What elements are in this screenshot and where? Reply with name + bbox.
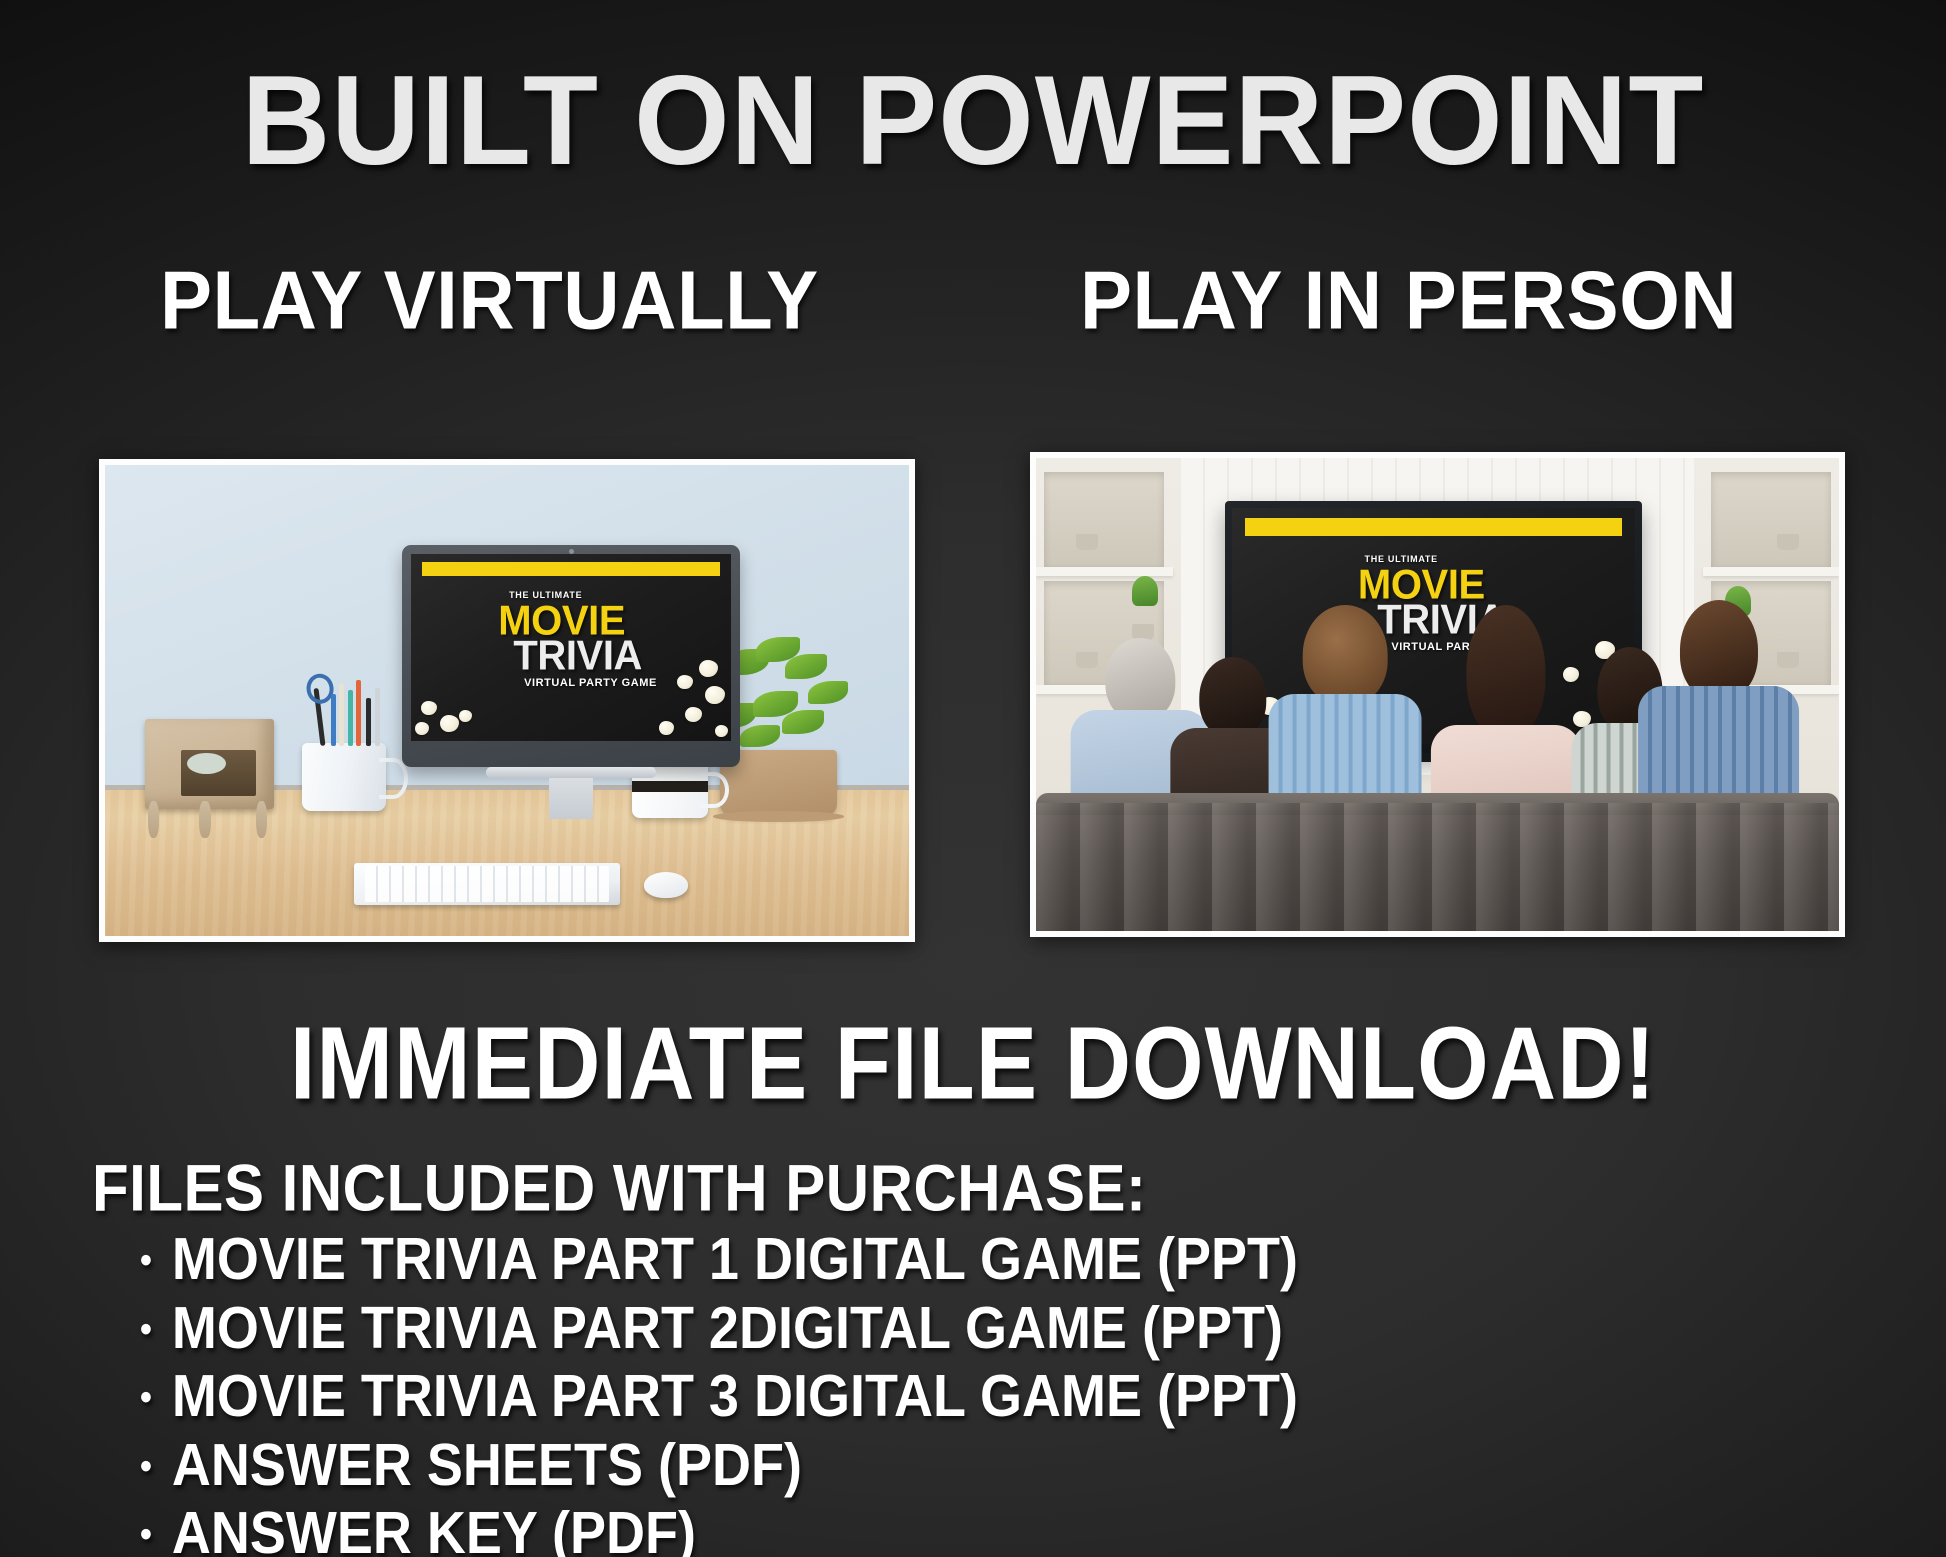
list-item: • ANSWER SHEETS (PDF) xyxy=(140,1428,1298,1503)
list-item: • MOVIE TRIVIA PART 2DIGITAL GAME (PPT) xyxy=(140,1291,1298,1366)
section-heading-play-in-person: PLAY IN PERSON xyxy=(1080,252,1737,348)
shelf-leg xyxy=(148,801,160,839)
section-heading-play-virtually: PLAY VIRTUALLY xyxy=(160,252,819,348)
pen xyxy=(339,684,344,746)
list-item-label: ANSWER KEY (PDF) xyxy=(172,1496,696,1557)
person-head xyxy=(1680,600,1758,700)
monitor-bezel: THE ULTIMATE MOVIE TRIVIA VIRTUAL PARTY … xyxy=(402,545,740,767)
living-room-scene-image: THE ULTIMATE MOVIE TRIVIA VIRTUAL PARTY … xyxy=(1036,458,1839,931)
files-included-list: • MOVIE TRIVIA PART 1 DIGITAL GAME (PPT)… xyxy=(140,1222,1298,1557)
slide-title-trivia: TRIVIA xyxy=(424,635,731,677)
wooden-shelf-prop xyxy=(145,719,274,808)
list-item: • MOVIE TRIVIA PART 1 DIGITAL GAME (PPT) xyxy=(140,1222,1298,1297)
shelf-nook xyxy=(1044,472,1164,567)
list-item-label: ANSWER SHEETS (PDF) xyxy=(172,1428,802,1503)
keyboard xyxy=(354,863,619,905)
person-head xyxy=(1466,605,1545,738)
pen xyxy=(366,698,371,746)
bullet-icon: • xyxy=(140,1379,152,1416)
photo-play-in-person: THE ULTIMATE MOVIE TRIVIA VIRTUAL PARTY … xyxy=(1030,452,1845,937)
shelf-nook xyxy=(1711,472,1831,567)
page-title: BUILT ON POWERPOINT xyxy=(0,57,1946,184)
slide-accent-bar xyxy=(422,562,720,576)
pen xyxy=(356,680,361,746)
files-included-title: FILES INCLUDED WITH PURCHASE: xyxy=(92,1150,1146,1226)
shelf-pot xyxy=(1076,534,1098,550)
list-item-label: MOVIE TRIVIA PART 3 DIGITAL GAME (PPT) xyxy=(172,1359,1298,1434)
person-head xyxy=(1199,657,1266,739)
bullet-icon: • xyxy=(140,1448,152,1485)
list-item: • ANSWER KEY (PDF) xyxy=(140,1496,1298,1557)
bullet-icon: • xyxy=(140,1310,152,1347)
shelf-board xyxy=(1036,567,1173,576)
shelf-opening xyxy=(181,750,256,797)
list-item-label: MOVIE TRIVIA PART 2DIGITAL GAME (PPT) xyxy=(172,1291,1283,1366)
list-item: • MOVIE TRIVIA PART 3 DIGITAL GAME (PPT) xyxy=(140,1359,1298,1434)
immediate-download-heading: IMMEDIATE FILE DOWNLOAD! xyxy=(0,1012,1946,1115)
mouse xyxy=(644,872,688,898)
sofa-backrest xyxy=(1036,793,1839,815)
shelf-board xyxy=(1703,567,1840,576)
desktop-monitor: THE ULTIMATE MOVIE TRIVIA VIRTUAL PARTY … xyxy=(402,545,740,767)
monitor-base xyxy=(486,767,656,778)
game-slide-screen: THE ULTIMATE MOVIE TRIVIA VIRTUAL PARTY … xyxy=(411,554,731,741)
shelf-leg xyxy=(256,801,268,839)
pen xyxy=(375,688,380,746)
small-plant xyxy=(1132,576,1158,606)
person-head xyxy=(1303,605,1388,705)
pen xyxy=(331,694,336,746)
slide-accent-bar xyxy=(1245,518,1621,536)
bullet-icon: • xyxy=(140,1516,152,1553)
poster-canvas: BUILT ON POWERPOINT PLAY VIRTUALLY PLAY … xyxy=(0,0,1946,1557)
person-head xyxy=(1106,638,1175,721)
shelf-pot xyxy=(1777,534,1799,550)
photo-play-virtually: THE ULTIMATE MOVIE TRIVIA VIRTUAL PARTY … xyxy=(99,459,915,942)
pen-cup xyxy=(302,743,386,811)
shelf-leg xyxy=(199,801,211,839)
list-item-label: MOVIE TRIVIA PART 1 DIGITAL GAME (PPT) xyxy=(172,1222,1298,1297)
pen xyxy=(348,690,353,746)
bullet-icon: • xyxy=(140,1242,152,1279)
desk-scene-image: THE ULTIMATE MOVIE TRIVIA VIRTUAL PARTY … xyxy=(105,465,909,936)
sofa xyxy=(1036,803,1839,931)
